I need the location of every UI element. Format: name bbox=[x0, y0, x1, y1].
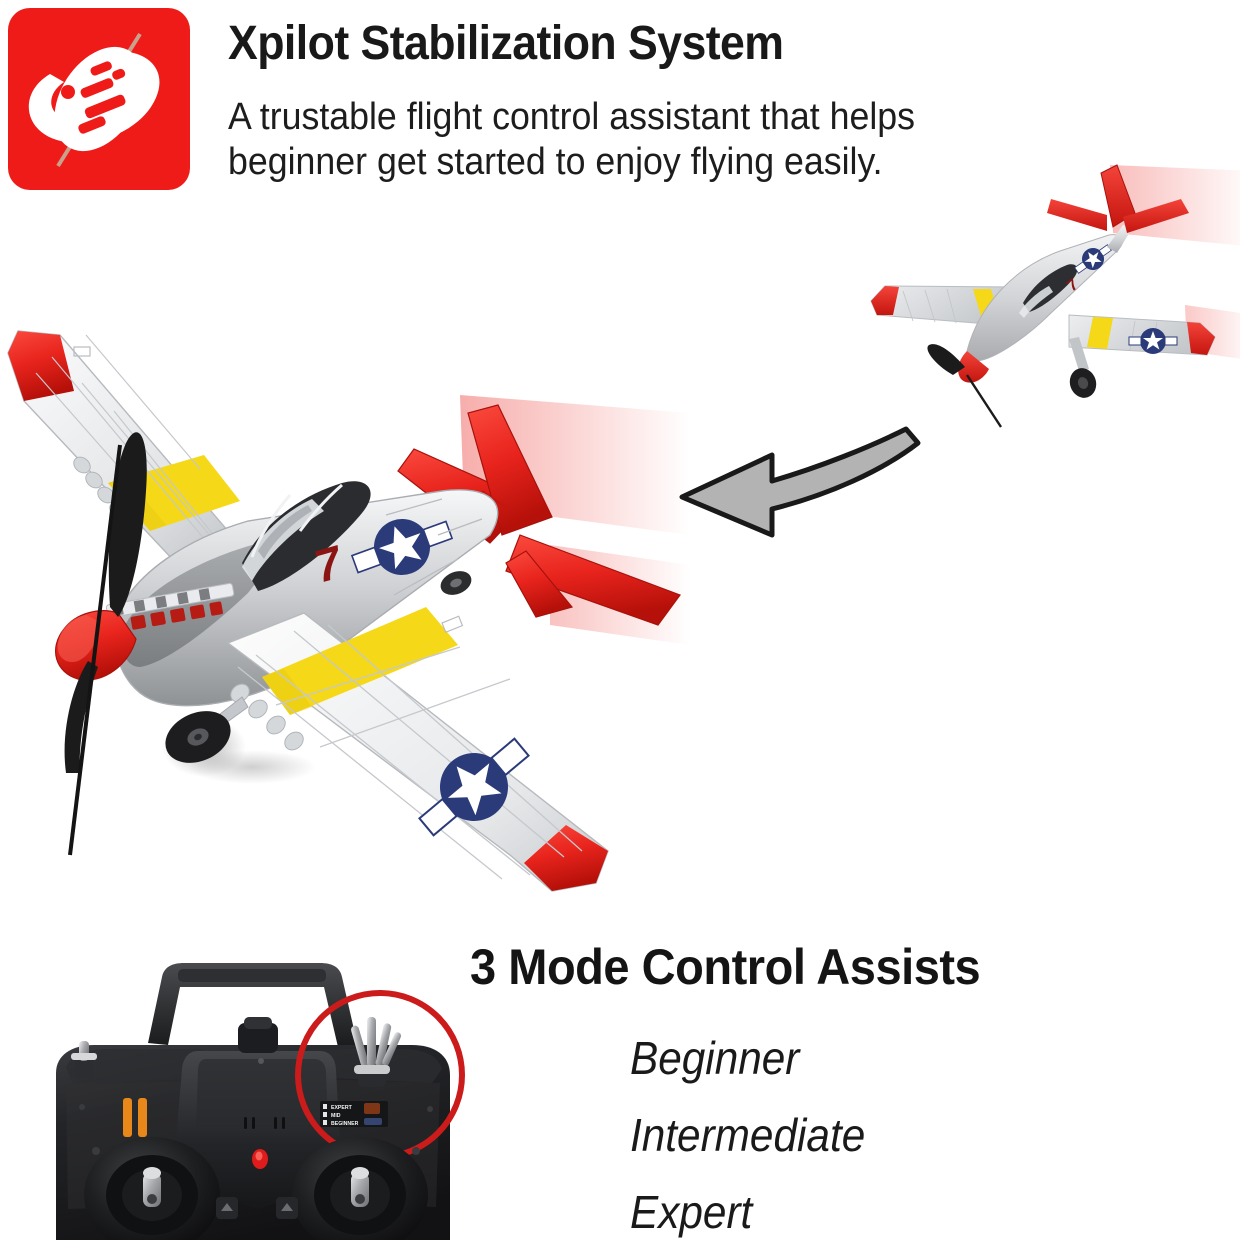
mode-item-expert: Expert bbox=[630, 1189, 865, 1235]
svg-text:MID: MID bbox=[331, 1113, 341, 1119]
page-title: Xpilot Stabilization System bbox=[228, 16, 783, 71]
rc-transmitter: EXPERT MID BEGINNER bbox=[20, 955, 490, 1240]
rc-airplane-large: 7 bbox=[0, 295, 710, 925]
svg-text:EXPERT: EXPERT bbox=[331, 1105, 353, 1111]
xpilot-logo-badge bbox=[8, 8, 190, 190]
rc-airplane-small: 7 bbox=[855, 155, 1240, 445]
gyroscope-icon bbox=[8, 8, 190, 190]
subtitle-line-1: A trustable flight control assistant tha… bbox=[228, 95, 1093, 140]
infographic-page: Xpilot Stabilization System A trustable … bbox=[0, 0, 1240, 1240]
mode-item-beginner: Beginner bbox=[630, 1035, 865, 1081]
mode-section-title: 3 Mode Control Assists bbox=[470, 938, 980, 996]
mode-list: Beginner Intermediate Expert bbox=[630, 1035, 886, 1240]
mode-switch-label: EXPERT MID BEGINNER bbox=[320, 1101, 388, 1127]
mode-item-intermediate: Intermediate bbox=[630, 1112, 865, 1158]
svg-text:BEGINNER: BEGINNER bbox=[331, 1121, 359, 1127]
